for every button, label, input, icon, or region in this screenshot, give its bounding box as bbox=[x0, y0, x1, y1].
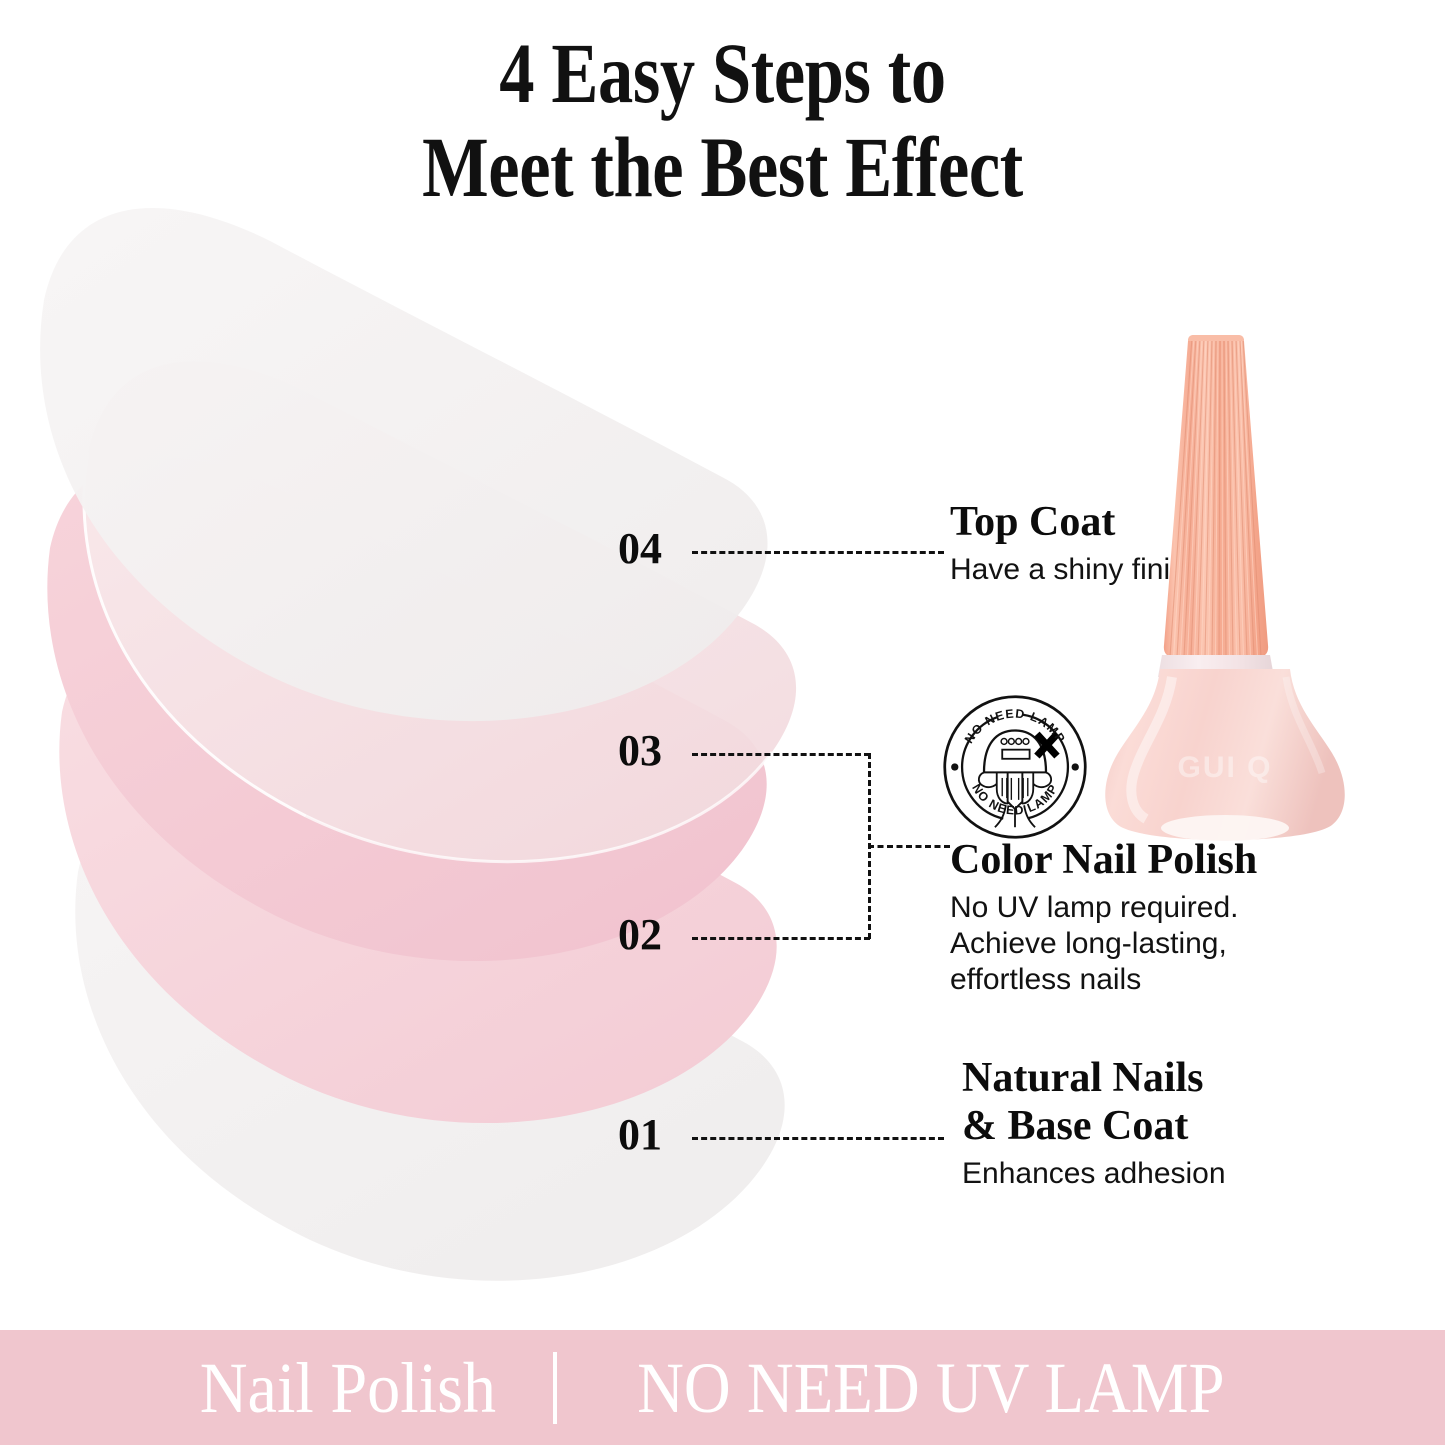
connector-line-03 bbox=[692, 753, 870, 756]
connector-line-04 bbox=[692, 551, 944, 554]
no-need-lamp-badge-svg: NO NEED LAMP NO NEED LAMP bbox=[942, 694, 1088, 840]
callout-color-polish: Color Nail Polish No UV lamp required. A… bbox=[950, 836, 1257, 998]
footer-divider bbox=[553, 1352, 557, 1424]
step-number-01: 01 bbox=[618, 1113, 662, 1157]
callout-color-polish-sub-1: No UV lamp required. bbox=[950, 890, 1257, 926]
nail-layer-stack bbox=[0, 0, 900, 1280]
footer-right-text: NO NEED UV LAMP bbox=[592, 1348, 1224, 1428]
callout-color-polish-sub-2: Achieve long-lasting, bbox=[950, 926, 1257, 962]
step-number-03: 03 bbox=[618, 729, 662, 773]
connector-line-02 bbox=[692, 937, 870, 940]
nail-layers-svg bbox=[0, 0, 900, 1300]
bottle-body: GUI Q bbox=[1105, 669, 1345, 841]
infographic-canvas: 4 Easy Steps to Meet the Best Effect bbox=[0, 0, 1445, 1445]
nail-polish-bottle: GUI Q bbox=[1100, 325, 1350, 845]
step-number-02: 02 bbox=[618, 913, 662, 957]
callout-base-coat-heading-2: & Base Coat bbox=[962, 1102, 1226, 1150]
footer-banner: Nail Polish NO NEED UV LAMP bbox=[0, 1330, 1445, 1445]
footer-left-text: Nail Polish bbox=[200, 1348, 539, 1428]
nail-polish-bottle-svg: GUI Q bbox=[1100, 325, 1350, 845]
no-need-lamp-badge: NO NEED LAMP NO NEED LAMP bbox=[942, 694, 1088, 840]
callout-base-coat-heading-1: Natural Nails bbox=[962, 1054, 1226, 1102]
callout-color-polish-sub-3: effortless nails bbox=[950, 962, 1257, 998]
callout-base-coat-sub: Enhances adhesion bbox=[962, 1156, 1226, 1192]
bottle-embossed-label: GUI Q bbox=[1177, 751, 1272, 784]
connector-line-color-polish bbox=[868, 845, 950, 848]
step-number-04: 04 bbox=[618, 527, 662, 571]
bottle-cap bbox=[1164, 335, 1268, 657]
connector-line-01 bbox=[692, 1137, 944, 1140]
callout-base-coat: Natural Nails & Base Coat Enhances adhes… bbox=[962, 1054, 1226, 1192]
